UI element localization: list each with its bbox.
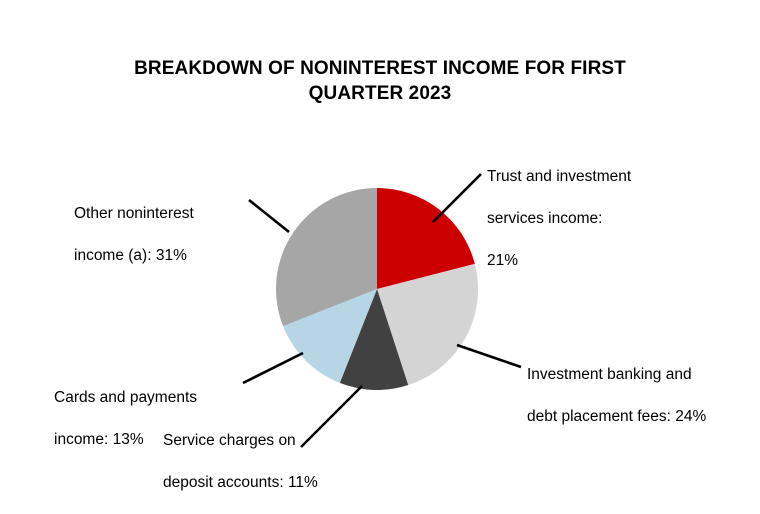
slice-label-service-charges-line-2: deposit accounts: 11% [163, 472, 363, 493]
leader-line-cards [243, 353, 303, 383]
leader-line-trust [433, 174, 481, 222]
slice-label-trust-line-1: Trust and investment [487, 166, 677, 187]
slice-label-trust-value: 21% [487, 250, 677, 271]
slice-label-cards: Cards and payments income: 13% [54, 366, 244, 471]
slice-label-other: Other noninterest income (a): 31% [74, 182, 269, 287]
pie-slices [276, 188, 478, 390]
leader-line-investment-banking [457, 345, 521, 367]
slice-label-investment-banking-line-1: Investment banking and [527, 364, 752, 385]
slice-label-cards-line-1: Cards and payments [54, 387, 244, 408]
slice-label-trust-line-2: services income: [487, 208, 677, 229]
pie-chart-figure: BREAKDOWN OF NONINTEREST INCOME FOR FIRS… [0, 0, 760, 494]
slice-label-investment-banking-line-2: debt placement fees: 24% [527, 406, 752, 427]
slice-label-other-line-2: income (a): 31% [74, 245, 269, 266]
slice-label-trust: Trust and investment services income: 21… [487, 145, 677, 292]
slice-label-investment-banking: Investment banking and debt placement fe… [527, 343, 752, 448]
slice-label-other-line-1: Other noninterest [74, 203, 269, 224]
slice-label-cards-line-2: income: 13% [54, 429, 244, 450]
